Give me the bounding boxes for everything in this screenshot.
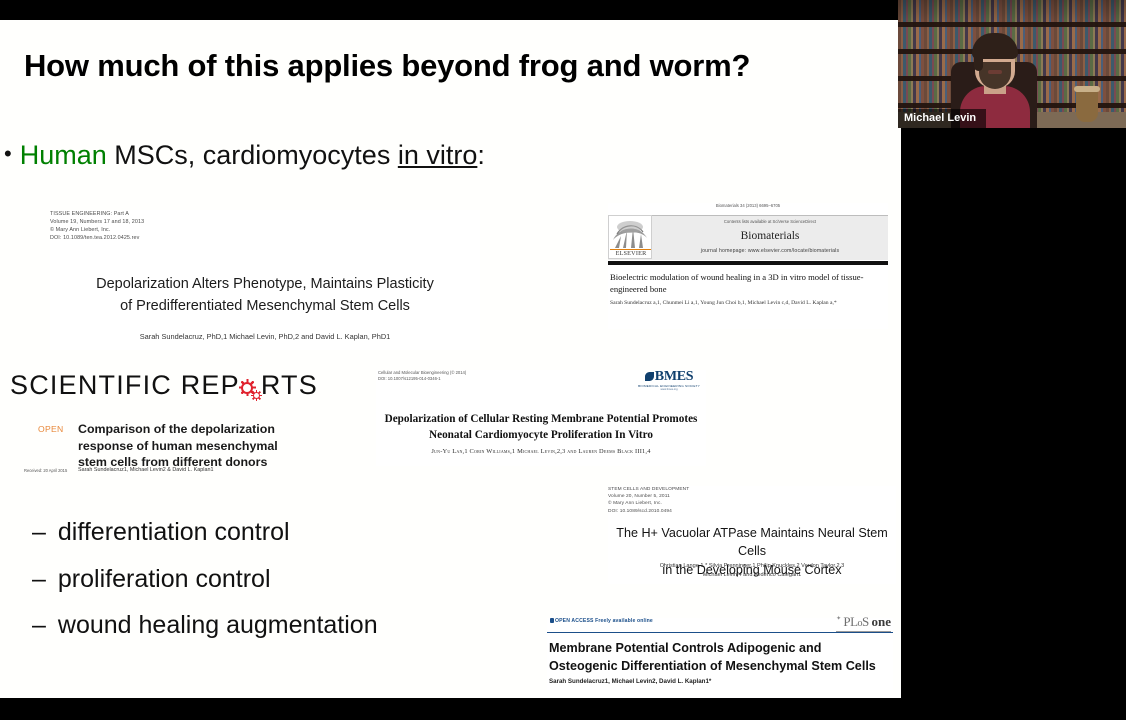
page-title: How much of this applies beyond frog and…	[24, 48, 884, 84]
paper-title: Bioelectric modulation of wound healing …	[610, 271, 886, 295]
journal-header: STEM CELLS AND DEVELOPMENT Volume 20, Nu…	[608, 486, 689, 515]
paper-title-line2: of Predifferentiated Mesenchymal Stem Ce…	[50, 296, 480, 318]
bmes-logo: BMES BIOMEDICAL ENGINEERING SOCIETY www.…	[638, 367, 700, 391]
main-bullet: •Human MSCs, cardiomyocytes in vitro:	[4, 140, 485, 171]
paper-authors: Sarah Sundelacruz1, Michael Levin2 & Dav…	[78, 467, 308, 473]
paper-title: Comparison of the depolarization respons…	[78, 421, 303, 471]
journal-header: Cellular and Molecular Bioengineering (©…	[378, 370, 466, 382]
elsevier-wordmark: ELSEVIER	[610, 249, 652, 257]
masthead-rule	[608, 261, 888, 265]
paper-clipping-stem-cells-development: STEM CELLS AND DEVELOPMENT Volume 20, Nu…	[608, 486, 896, 584]
plos-star-icon: ✦	[836, 616, 841, 622]
bullet-colon: :	[477, 140, 485, 170]
paper-authors-line2: Michael Levin,4 and Federico Calegari1	[608, 571, 896, 580]
paper-title-line1: Depolarization Alters Phenotype, Maintai…	[50, 274, 480, 296]
paper-title-line1: Depolarization of Cellular Resting Membr…	[376, 412, 706, 428]
scientific-reports-logo: SCIENTIFIC REPRTS	[10, 370, 318, 401]
presentation-slide: How much of this applies beyond frog and…	[0, 20, 901, 698]
bullet-rest: MSCs, cardiomyocytes	[107, 140, 398, 170]
sub-bullet-proliferation: –proliferation control	[32, 565, 271, 594]
gear-small-icon	[252, 391, 261, 400]
dash-marker: –	[32, 518, 46, 546]
participant-name-label: Michael Levin	[898, 109, 986, 128]
open-access-line: OPEN ACCESS Freely available online	[549, 618, 653, 624]
sub-bullet-label: proliferation control	[58, 565, 271, 593]
paper-title-line2: Osteogenic Differentiation of Mesenchyma…	[549, 658, 893, 676]
dash-marker: –	[32, 611, 46, 639]
header-rule	[547, 632, 893, 633]
plos-one-word: one	[872, 614, 892, 629]
paper-authors-line1: Christian Lange,1,* Silvia Prenninger,1 …	[608, 562, 896, 571]
plos-one-logo: ✦ PLoS one	[836, 614, 891, 632]
paper-clipping-plos-one: OPEN ACCESS Freely available online ✦ PL…	[547, 618, 893, 690]
lock-icon	[550, 618, 554, 623]
received-date: Received: 20 April 2015	[24, 468, 76, 473]
bmes-website: www.bmes.org	[638, 388, 700, 391]
bullet-green-word: Human	[20, 140, 107, 170]
paper-authors: Sarah Sundelacruz, PhD,1 Michael Levin, …	[50, 332, 480, 341]
journal-running-head: Biomaterials 34 (2013) 6695–6705	[608, 203, 888, 209]
paper-title: Membrane Potential Controls Adipogenic a…	[549, 640, 893, 676]
journal-homepage: journal homepage: www.elsevier.com/locat…	[652, 248, 888, 254]
djembe-drum	[1076, 86, 1098, 122]
paper-authors: Sarah Sundelacruz a,1, Chunmei Li a,1, Y…	[610, 299, 886, 308]
webcam-tile[interactable]: Michael Levin	[898, 0, 1126, 128]
bullet-marker: •	[4, 141, 12, 166]
sub-bullet-label: wound healing augmentation	[58, 611, 378, 639]
contents-line: Contents lists available at SciVerse Sci…	[652, 219, 888, 225]
paper-authors: Christian Lange,1,* Silvia Prenninger,1 …	[608, 562, 896, 580]
screen: How much of this applies beyond frog and…	[0, 0, 1126, 720]
paper-title-line1: Membrane Potential Controls Adipogenic a…	[549, 640, 893, 658]
paper-title: Depolarization of Cellular Resting Membr…	[376, 412, 706, 443]
bmes-wordmark: BMES	[655, 369, 693, 384]
bmes-diamond-icon	[645, 372, 654, 381]
paper-title-line2: Neonatal Cardiomyocyte Proliferation In …	[376, 428, 706, 444]
paper-title: Depolarization Alters Phenotype, Maintai…	[50, 274, 480, 318]
sub-bullet-differentiation: –differentiation control	[32, 518, 290, 547]
paper-title-line1: Comparison of the depolarization	[78, 421, 303, 438]
elsevier-tree-logo-icon: ELSEVIER	[608, 215, 652, 259]
paper-clipping-cardiomyocyte: Cellular and Molecular Bioengineering (©…	[376, 370, 706, 466]
paper-authors: Jun-Yu Lan,1 Corin Williams,1 Michael Le…	[376, 448, 706, 455]
open-access-badge: OPEN	[38, 424, 64, 434]
open-access-label: OPEN ACCESS Freely available online	[555, 618, 653, 624]
paper-authors: Sarah Sundelacruz1, Michael Levin2, Davi…	[549, 678, 893, 685]
bullet-italic-term: in vitro	[398, 140, 478, 170]
paper-title-line2: response of human mesenchymal	[78, 438, 303, 455]
paper-clipping-scientific-reports: SCIENTIFIC REPRTS OPEN Comparison of the…	[6, 370, 306, 490]
paper-title-line1: The H+ Vacuolar ATPase Maintains Neural …	[608, 524, 896, 561]
sub-bullet-wound-healing: –wound healing augmentation	[32, 611, 378, 640]
paper-clipping-tissue-engineering: TISSUE ENGINEERING: Part A Volume 19, Nu…	[50, 210, 480, 350]
journal-header: TISSUE ENGINEERING: Part A Volume 19, Nu…	[50, 210, 144, 242]
speaker-mouth	[988, 70, 1002, 74]
sub-bullet-label: differentiation control	[58, 518, 290, 546]
journal-name: Biomaterials	[652, 230, 888, 242]
paper-clipping-biomaterials: Biomaterials 34 (2013) 6695–6705 ELSEVIE…	[608, 203, 888, 329]
dash-marker: –	[32, 565, 46, 593]
